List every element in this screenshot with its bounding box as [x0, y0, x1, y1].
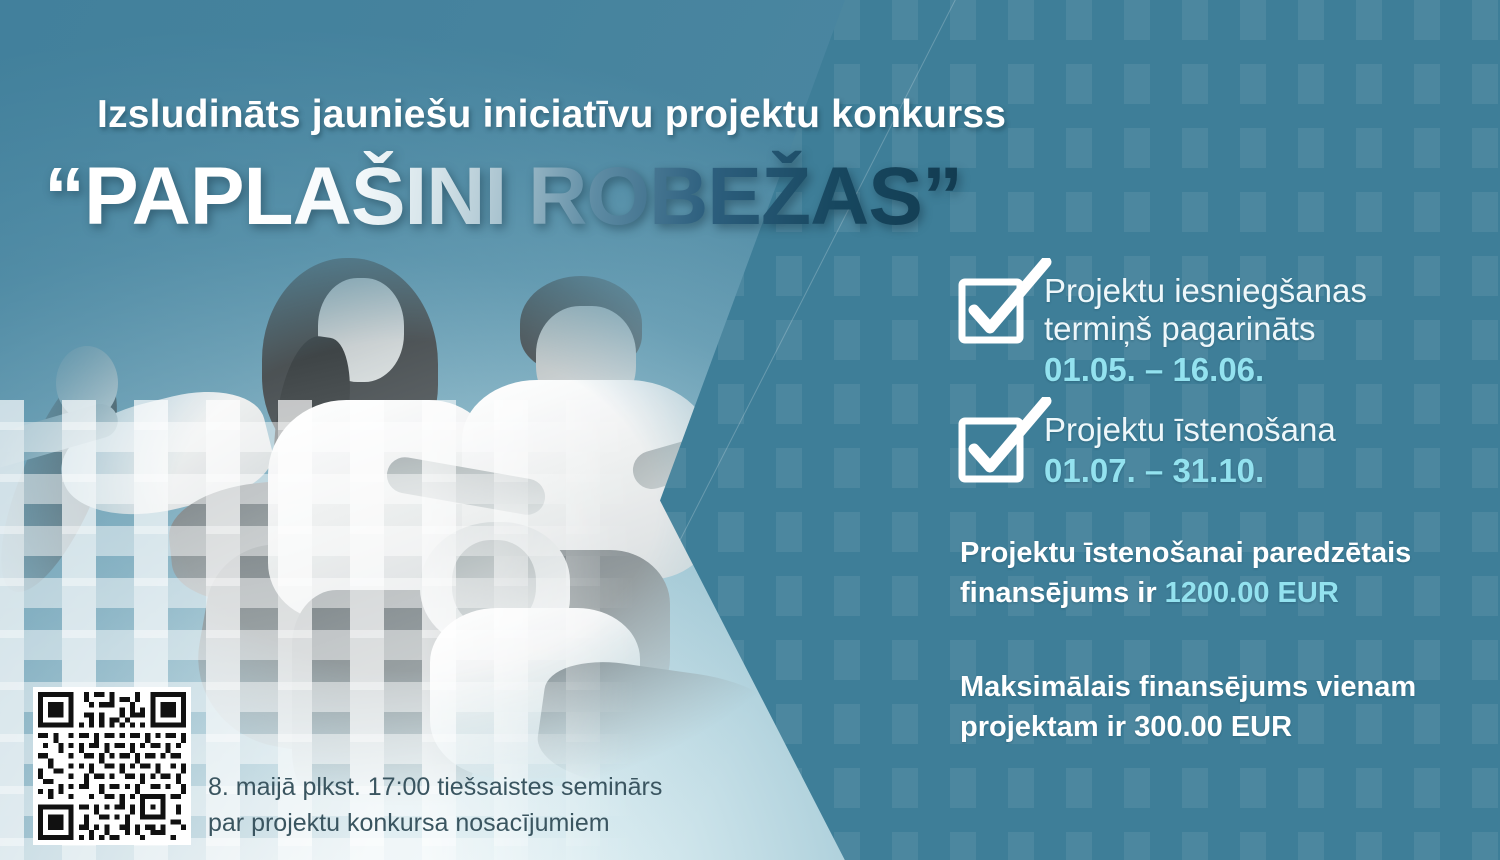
- page-title: “PAPLAŠINI ROBEŽAS”: [44, 150, 962, 244]
- seminar-line: 8. maijā plkst. 17:00 tiešsaistes seminā…: [208, 770, 662, 806]
- checklist-item: Projektu iesniegšanas termiņš pagarināts…: [960, 272, 1460, 391]
- funding-line: finansējums ir 1200.00 EUR: [960, 573, 1460, 613]
- funding-item: Maksimālais finansējums vienam projektam…: [960, 667, 1460, 747]
- checklist-line: termiņš pagarināts: [1044, 310, 1367, 348]
- checkbox-checked-icon: [960, 415, 1022, 477]
- checklist-item: Projektu īstenošana 01.07. – 31.10.: [960, 411, 1460, 492]
- funding-amount: 300.00 EUR: [1134, 711, 1292, 743]
- checkbox-checked-icon: [960, 276, 1022, 338]
- funding-line: Projektu īstenošanai paredzētais: [960, 533, 1460, 573]
- deadline-checklist: Projektu iesniegšanas termiņš pagarināts…: [960, 272, 1460, 513]
- checklist-date: 01.05. – 16.06.: [1044, 349, 1367, 392]
- funding-prefix: projektam ir: [960, 711, 1134, 743]
- funding-info: Projektu īstenošanai paredzētais finansē…: [960, 533, 1460, 801]
- funding-item: Projektu īstenošanai paredzētais finansē…: [960, 533, 1460, 613]
- funding-line: projektam ir 300.00 EUR: [960, 707, 1460, 747]
- funding-amount: 1200.00 EUR: [1165, 577, 1339, 609]
- funding-line: Maksimālais finansējums vienam: [960, 667, 1460, 707]
- seminar-note: 8. maijā plkst. 17:00 tiešsaistes seminā…: [208, 770, 662, 841]
- qr-code[interactable]: [33, 687, 191, 845]
- seminar-line: par projektu konkursa nosacījumiem: [208, 806, 662, 842]
- checklist-line: Projektu īstenošana: [1044, 411, 1336, 449]
- checklist-date: 01.07. – 31.10.: [1044, 450, 1336, 493]
- page-headline: Izsludināts jauniešu iniciatīvu projektu…: [97, 93, 1006, 137]
- funding-prefix: finansējums ir: [960, 577, 1165, 609]
- checklist-line: Projektu iesniegšanas: [1044, 272, 1367, 310]
- promotional-banner: Izsludināts jauniešu iniciatīvu projektu…: [0, 0, 1500, 860]
